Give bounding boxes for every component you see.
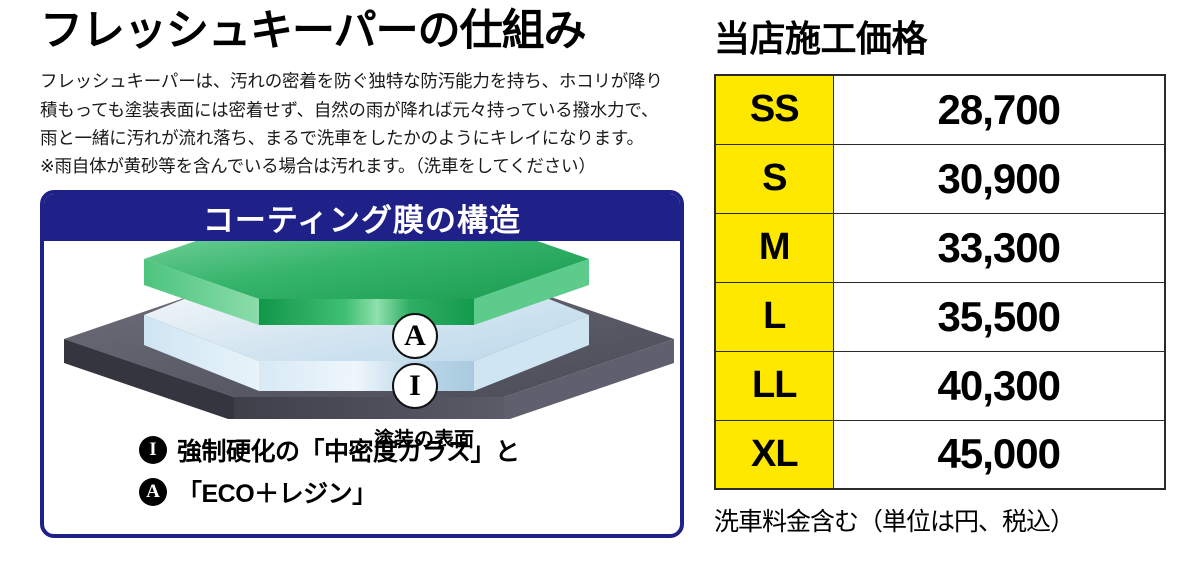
description-line: 雨と一緒に汚れが流れ落ち、まるで洗車をしたかのようにキレイになります。 bbox=[40, 124, 700, 152]
price-table: SS 28,700 S 30,900 M 33,300 L 35,500 LL bbox=[714, 74, 1166, 490]
size-cell: XL bbox=[715, 420, 833, 489]
coating-layers-diagram: A I 塗装の表面 bbox=[44, 241, 680, 416]
description-line: 積もっても塗装表面には密着せず、自然の雨が降れば元々持っている撥水力で、 bbox=[40, 96, 700, 124]
layers-svg bbox=[44, 241, 680, 419]
legend-label: 強制硬化の「中密度ガラス」と bbox=[177, 432, 520, 468]
table-row: SS 28,700 bbox=[715, 75, 1165, 144]
panel-header-label: コーティング膜の構造 bbox=[203, 195, 521, 240]
table-row: S 30,900 bbox=[715, 144, 1165, 213]
pricing-title: 当店施工価格 bbox=[714, 10, 1200, 62]
size-cell: LL bbox=[715, 351, 833, 420]
price-footnote: 洗車料金含む（単位は円、税込） bbox=[714, 502, 1200, 538]
table-row: LL 40,300 bbox=[715, 351, 1165, 420]
size-cell: L bbox=[715, 282, 833, 351]
legend-item: I 強制硬化の「中密度ガラス」と bbox=[139, 432, 520, 468]
legend-marker-a-icon: A bbox=[139, 478, 167, 506]
legend-marker-i-icon: I bbox=[139, 436, 167, 464]
price-cell: 40,300 bbox=[833, 351, 1165, 420]
price-table-body: SS 28,700 S 30,900 M 33,300 L 35,500 LL bbox=[715, 75, 1165, 489]
price-cell: 35,500 bbox=[833, 282, 1165, 351]
price-info-sheet: フレッシュキーパーの仕組み フレッシュキーパーは、汚れの密着を防ぐ独特な防汚能力… bbox=[0, 0, 1200, 580]
layer-legend: I 強制硬化の「中密度ガラス」と A 「ECO＋レジン」 bbox=[139, 432, 520, 516]
price-cell: 45,000 bbox=[833, 420, 1165, 489]
legend-label: 「ECO＋レジン」 bbox=[177, 474, 377, 510]
legend-item: A 「ECO＋レジン」 bbox=[139, 474, 520, 510]
table-row: L 35,500 bbox=[715, 282, 1165, 351]
table-row: XL 45,000 bbox=[715, 420, 1165, 489]
pricing-section: 当店施工価格 SS 28,700 S 30,900 M 33,300 L 35,… bbox=[700, 0, 1200, 580]
badge-i-icon: I bbox=[392, 363, 438, 409]
description-line: フレッシュキーパーは、汚れの密着を防ぐ独特な防汚能力を持ち、ホコリが降り bbox=[40, 67, 700, 95]
badge-a-icon: A bbox=[392, 313, 438, 359]
panel-header: コーティング膜の構造 bbox=[43, 193, 681, 241]
description-paragraph: フレッシュキーパーは、汚れの密着を防ぐ独特な防汚能力を持ち、ホコリが降り 積もっ… bbox=[40, 67, 700, 180]
size-cell: M bbox=[715, 213, 833, 282]
page-title: フレッシュキーパーの仕組み bbox=[40, 8, 700, 55]
table-row: M 33,300 bbox=[715, 213, 1165, 282]
mechanism-section: フレッシュキーパーの仕組み フレッシュキーパーは、汚れの密着を防ぐ独特な防汚能力… bbox=[0, 0, 700, 580]
price-cell: 30,900 bbox=[833, 144, 1165, 213]
size-cell: S bbox=[715, 144, 833, 213]
price-cell: 28,700 bbox=[833, 75, 1165, 144]
price-cell: 33,300 bbox=[833, 213, 1165, 282]
coating-structure-panel: コーティング膜の構造 bbox=[40, 190, 684, 538]
size-cell: SS bbox=[715, 75, 833, 144]
description-note-line: ※雨自体が黄砂等を含んでいる場合は汚れます。（洗車をしてください） bbox=[40, 152, 700, 180]
